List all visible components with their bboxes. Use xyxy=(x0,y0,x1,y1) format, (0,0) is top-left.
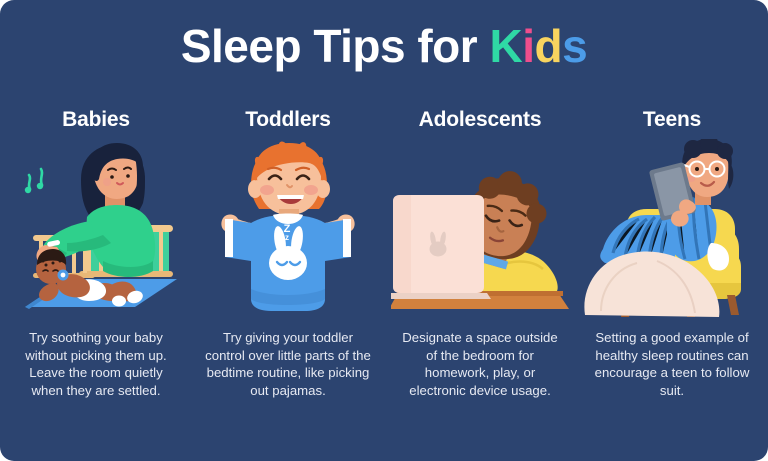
tip-column-toddlers: Toddlers xyxy=(192,105,384,461)
title-letter-s: s xyxy=(562,20,587,72)
illustration-toddler-holding-pajama-shirt: Z z xyxy=(199,139,377,319)
column-body-adolescents: Designate a space outside of the bedroom… xyxy=(396,329,564,399)
column-body-toddlers: Try giving your toddler control over lit… xyxy=(204,329,372,399)
column-body-teens: Setting a good example of healthy sleep … xyxy=(588,329,756,399)
tip-column-adolescents: Adolescents xyxy=(384,105,576,461)
illustration-teen-reading-on-sofa xyxy=(583,139,761,319)
page-title: Sleep Tips for Kids xyxy=(0,21,768,72)
svg-text:z: z xyxy=(285,233,289,242)
column-heading-teens: Teens xyxy=(643,105,701,139)
column-heading-toddlers: Toddlers xyxy=(245,105,331,139)
column-heading-adolescents: Adolescents xyxy=(419,105,542,139)
title-letter-i: i xyxy=(522,20,534,72)
title-letter-d: d xyxy=(534,20,562,72)
illustration-tired-adolescent-at-laptop xyxy=(391,139,569,319)
tip-column-teens: Teens xyxy=(576,105,768,461)
column-heading-babies: Babies xyxy=(62,105,130,139)
column-body-babies: Try soothing your baby without picking t… xyxy=(12,329,180,399)
infographic-canvas: Sleep Tips for Kids Babies xyxy=(0,0,768,461)
tip-column-babies: Babies xyxy=(0,105,192,461)
title-plain-part: Sleep Tips for xyxy=(181,20,490,72)
tips-columns: Babies xyxy=(0,105,768,461)
illustration-mother-soothing-baby-in-crib xyxy=(7,139,185,319)
title-letter-k: K xyxy=(489,20,522,72)
